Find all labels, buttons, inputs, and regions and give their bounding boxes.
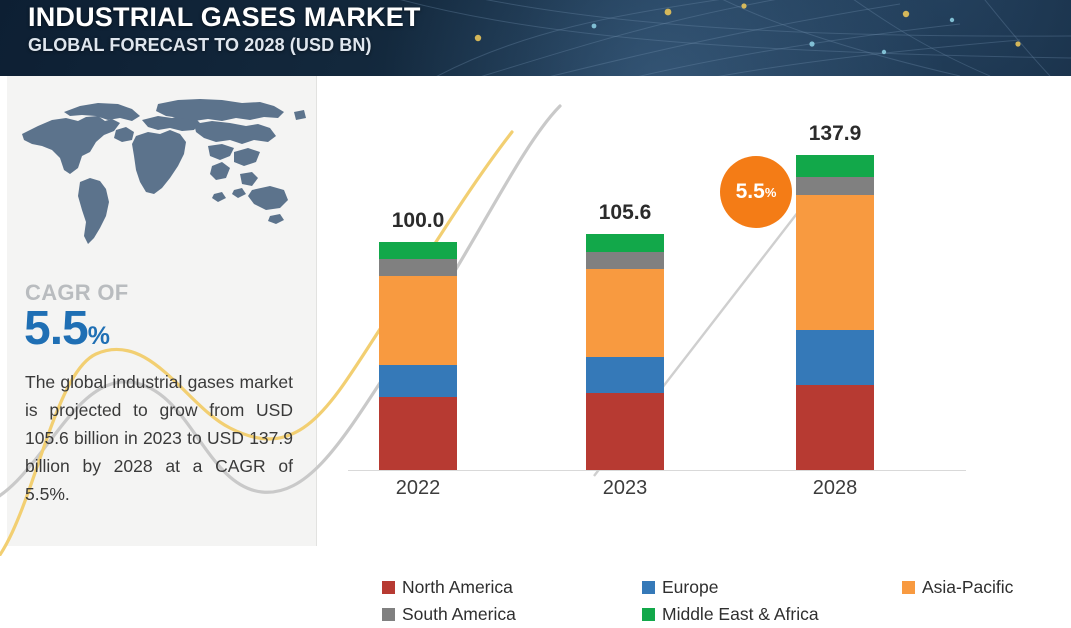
bar-segment[interactable] xyxy=(379,365,457,397)
bubble-value: 5.5 xyxy=(736,180,765,204)
legend-item[interactable]: Asia-Pacific xyxy=(902,577,1013,598)
bar-segment[interactable] xyxy=(796,330,874,385)
cagr-value: 5.5% xyxy=(24,304,109,361)
bar-segment[interactable] xyxy=(586,393,664,470)
legend-swatch xyxy=(642,608,655,621)
bar-2028[interactable] xyxy=(796,155,874,470)
cagr-percent-sign: % xyxy=(88,322,109,350)
bar-segment[interactable] xyxy=(796,195,874,330)
legend-label: Europe xyxy=(662,577,718,598)
legend-item[interactable]: Europe xyxy=(642,577,902,598)
page-subtitle: GLOBAL FORECAST TO 2028 (USD BN) xyxy=(28,34,1071,56)
bar-2023[interactable] xyxy=(586,234,664,470)
legend-swatch xyxy=(382,608,395,621)
bar-total-label: 100.0 xyxy=(348,209,488,233)
legend-swatch xyxy=(902,581,915,594)
page-title: INDUSTRIAL GASES MARKET xyxy=(28,2,1071,32)
legend-item[interactable]: Middle East & Africa xyxy=(642,604,902,625)
content-area: CAGR OF 5.5% The global industrial gases… xyxy=(0,76,1071,556)
x-axis-label-2023: 2023 xyxy=(555,477,695,500)
legend-swatch xyxy=(382,581,395,594)
bubble-percent-sign: % xyxy=(765,185,777,200)
bar-total-label: 105.6 xyxy=(555,201,695,225)
x-axis-label-2022: 2022 xyxy=(348,477,488,500)
bar-segment[interactable] xyxy=(796,385,874,470)
legend-label: South America xyxy=(402,604,516,625)
bar-segment[interactable] xyxy=(379,276,457,365)
bar-total-label: 137.9 xyxy=(765,122,905,146)
bar-segment[interactable] xyxy=(379,397,457,470)
panel-left-edge xyxy=(0,76,7,546)
bar-segment[interactable] xyxy=(796,177,874,195)
legend-swatch xyxy=(642,581,655,594)
bar-segment[interactable] xyxy=(379,242,457,260)
cagr-bubble-badge: 5.5% xyxy=(720,156,792,228)
bar-2022[interactable] xyxy=(379,242,457,470)
panel-description: The global industrial gases market is pr… xyxy=(25,368,293,508)
legend-label: Asia-Pacific xyxy=(922,577,1013,598)
stacked-bar-chart: 5.5% 100.0105.6137.9 202220232028 xyxy=(316,76,1071,556)
legend-label: Middle East & Africa xyxy=(662,604,819,625)
bar-segment[interactable] xyxy=(586,357,664,392)
bar-segment[interactable] xyxy=(586,252,664,269)
legend-label: North America xyxy=(402,577,513,598)
chart-legend: North AmericaEuropeAsia-PacificSouth Ame… xyxy=(382,574,1002,628)
cagr-number: 5.5 xyxy=(24,302,88,355)
bar-segment[interactable] xyxy=(586,269,664,357)
world-map-icon xyxy=(8,90,308,270)
legend-item[interactable]: North America xyxy=(382,577,642,598)
bar-segment[interactable] xyxy=(379,259,457,276)
bar-segment[interactable] xyxy=(796,155,874,177)
header-banner: INDUSTRIAL GASES MARKET GLOBAL FORECAST … xyxy=(0,0,1071,76)
legend-item[interactable]: South America xyxy=(382,604,642,625)
bar-segment[interactable] xyxy=(586,234,664,253)
x-axis-label-2028: 2028 xyxy=(765,477,905,500)
